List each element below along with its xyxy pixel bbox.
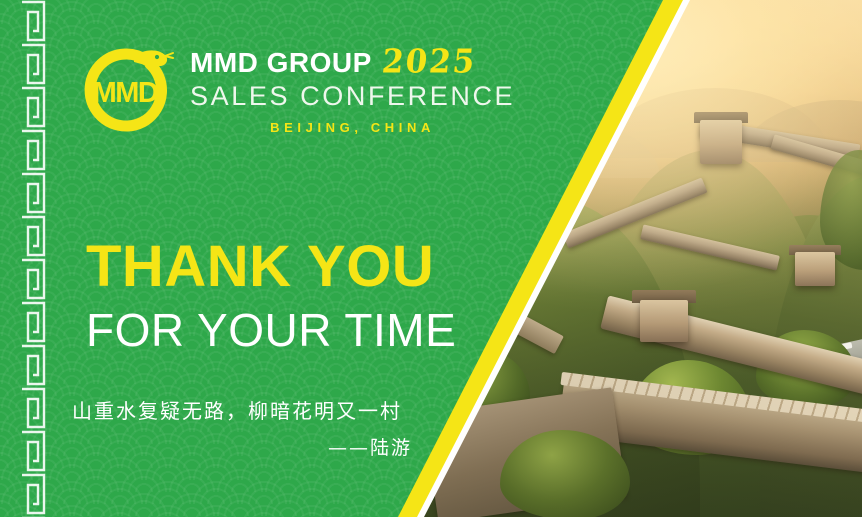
- headline-line-1: THANK YOU: [86, 238, 456, 296]
- quote-author: ——陆游: [72, 433, 412, 460]
- thank-you-headline: THANK YOU FOR YOUR TIME: [86, 238, 456, 353]
- chinese-quotation: 山重水复疑无路，柳暗花明又一村 ——陆游: [72, 398, 412, 460]
- brand-name: MMD GROUP: [190, 49, 372, 77]
- conference-year: 2025: [380, 46, 478, 79]
- quote-text: 山重水复疑无路，柳暗花明又一村: [72, 398, 412, 424]
- conference-subtitle: SALES CONFERENCE: [190, 83, 515, 110]
- logo-text-stack: MMD GROUP 2025 SALES CONFERENCE BEIJING,…: [190, 47, 515, 134]
- snake-circle-mmd-logo-icon: MMD: [72, 38, 176, 142]
- logo-monogram-text: MMD: [93, 77, 158, 109]
- thank-you-slide: MMD MMD GROUP 2025 SALES CONFERENCE BEIJ…: [0, 0, 862, 517]
- conference-location: BEIJING, CHINA: [190, 121, 515, 134]
- greek-key-meander-border: [18, 0, 48, 517]
- conference-logo-lockup: MMD MMD GROUP 2025 SALES CONFERENCE BEIJ…: [72, 38, 515, 142]
- headline-line-2: FOR YOUR TIME: [86, 307, 456, 353]
- logo-primary-line: MMD GROUP 2025: [190, 47, 515, 78]
